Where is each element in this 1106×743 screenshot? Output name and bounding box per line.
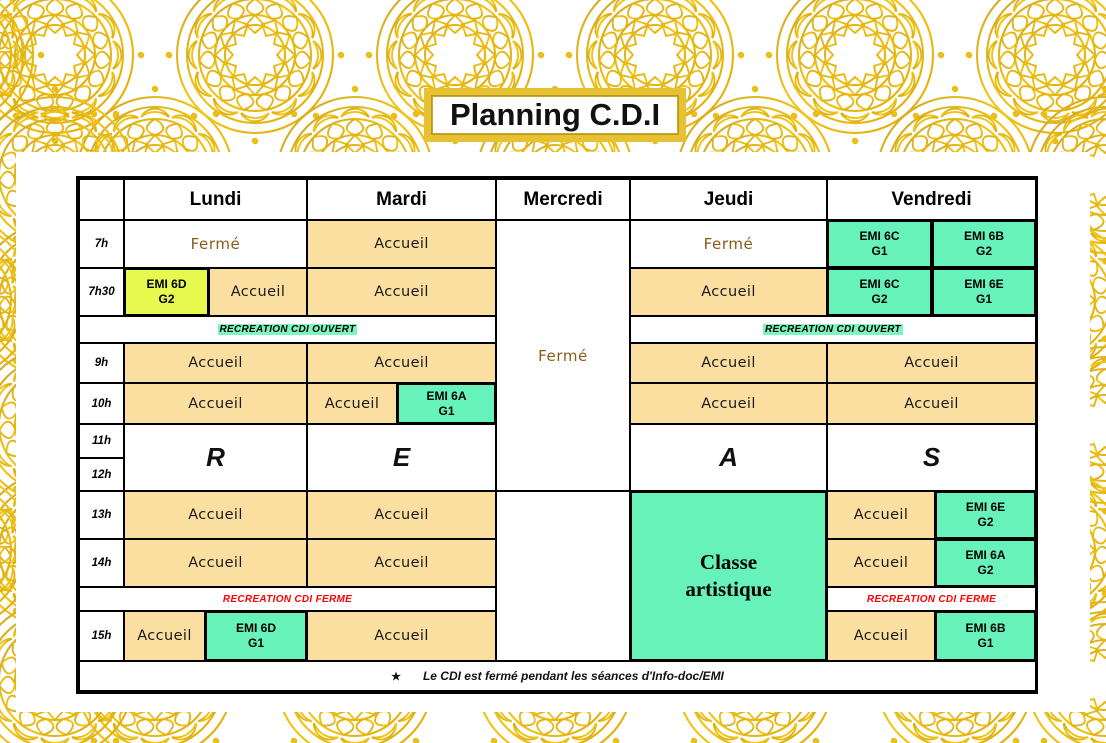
- emi-group-label: G2: [871, 292, 887, 307]
- classe-line-2: artistique: [685, 576, 771, 603]
- emi-class-label: EMI 6E: [964, 277, 1003, 292]
- emi-class-label: EMI 6D: [146, 277, 186, 292]
- cell-mardi-10h-emi-6a-g1: EMI 6A G1: [397, 383, 496, 424]
- time-label-12h: 12h: [79, 458, 124, 491]
- classe-line-1: Classe: [700, 549, 757, 576]
- planning-table: Lundi Mardi Mercredi Jeudi Vendredi 7h F…: [76, 176, 1038, 694]
- cell-vendredi-14h-emi-6a-g2: EMI 6A G2: [935, 539, 1036, 587]
- emi-group-label: G1: [977, 636, 993, 651]
- footnote-text: Le CDI est fermé pendant les séances d'I…: [423, 669, 724, 683]
- repas-letter-jeudi: A: [630, 424, 827, 491]
- cell-lundi-7h: Fermé: [124, 220, 307, 268]
- recreation-open-label: RECREATION CDI OUVERT: [763, 324, 903, 335]
- cell-lundi-13h: Accueil: [124, 491, 307, 539]
- cell-mardi-14h: Accueil: [307, 539, 496, 587]
- page-title: Planning C.D.I: [450, 97, 660, 133]
- emi-class-label: EMI 6C: [859, 229, 899, 244]
- time-label-13h: 13h: [79, 491, 124, 539]
- footnote-row: ★ Le CDI est fermé pendant les séances d…: [79, 661, 1036, 691]
- time-label-11h: 11h: [79, 424, 124, 458]
- cell-lundi-15h-accueil: Accueil: [124, 611, 205, 661]
- repas-letter-vendredi: S: [827, 424, 1036, 491]
- emi-group-label: G1: [976, 292, 992, 307]
- recreation-band-afternoon-right: RECREATION CDI FERME: [827, 587, 1036, 611]
- cell-vendredi-15h-emi-6b-g1: EMI 6B G1: [935, 611, 1036, 661]
- emi-class-label: EMI 6E: [966, 500, 1005, 515]
- repas-letter-lundi: R: [124, 424, 307, 491]
- recreation-band-afternoon-left: RECREATION CDI FERME: [79, 587, 496, 611]
- page-title-plaque: Planning C.D.I: [424, 88, 686, 142]
- cell-lundi-15h-emi-6d-g1: EMI 6D G1: [205, 611, 307, 661]
- emi-group-label: G1: [438, 404, 454, 419]
- emi-group-label: G1: [248, 636, 264, 651]
- emi-class-label: EMI 6B: [964, 229, 1004, 244]
- cell-jeudi-classe-artistique: Classe artistique: [630, 491, 827, 661]
- time-label-14h: 14h: [79, 539, 124, 587]
- emi-group-label: G2: [976, 244, 992, 259]
- cell-jeudi-9h: Accueil: [630, 343, 827, 383]
- cell-vendredi-7h-emi-6c-g1: EMI 6C G1: [827, 220, 932, 268]
- emi-group-label: G2: [977, 515, 993, 530]
- cell-mardi-10h-accueil: Accueil: [307, 383, 397, 424]
- cell-lundi-7h30-emi-6d-g2: EMI 6D G2: [124, 268, 209, 316]
- recreation-band-morning-left: RECREATION CDI OUVERT: [79, 316, 496, 343]
- time-label-9h: 9h: [79, 343, 124, 383]
- cell-lundi-10h: Accueil: [124, 383, 307, 424]
- star-icon: ★: [391, 670, 401, 683]
- emi-class-label: EMI 6C: [859, 277, 899, 292]
- cell-lundi-14h: Accueil: [124, 539, 307, 587]
- cell-jeudi-7h30: Accueil: [630, 268, 827, 316]
- emi-class-label: EMI 6A: [965, 548, 1005, 563]
- time-label-7h: 7h: [79, 220, 124, 268]
- cell-vendredi-14h-accueil: Accueil: [827, 539, 935, 587]
- cell-mardi-7h: Accueil: [307, 220, 496, 268]
- header-day-vendredi: Vendredi: [827, 179, 1036, 220]
- repas-letter-mardi: E: [307, 424, 496, 491]
- cell-vendredi-7h30-emi-6c-g2: EMI 6C G2: [827, 268, 932, 316]
- cell-mardi-9h: Accueil: [307, 343, 496, 383]
- emi-group-label: G2: [158, 292, 174, 307]
- time-label-10h: 10h: [79, 383, 124, 424]
- emi-class-label: EMI 6D: [236, 621, 276, 636]
- emi-class-label: EMI 6A: [426, 389, 466, 404]
- emi-group-label: G2: [977, 563, 993, 578]
- header-day-mardi: Mardi: [307, 179, 496, 220]
- header-day-jeudi: Jeudi: [630, 179, 827, 220]
- cell-mardi-13h: Accueil: [307, 491, 496, 539]
- cell-lundi-9h: Accueil: [124, 343, 307, 383]
- cell-lundi-7h30-accueil: Accueil: [209, 268, 307, 316]
- recreation-closed-label: RECREATION CDI FERME: [865, 594, 998, 605]
- cell-vendredi-15h-accueil: Accueil: [827, 611, 935, 661]
- cell-jeudi-10h: Accueil: [630, 383, 827, 424]
- recreation-closed-label: RECREATION CDI FERME: [221, 594, 354, 605]
- emi-group-label: G1: [871, 244, 887, 259]
- cell-vendredi-7h-emi-6b-g2: EMI 6B G2: [932, 220, 1036, 268]
- header-day-lundi: Lundi: [124, 179, 307, 220]
- cell-vendredi-10h: Accueil: [827, 383, 1036, 424]
- cell-jeudi-7h: Fermé: [630, 220, 827, 268]
- recreation-open-label: RECREATION CDI OUVERT: [218, 324, 358, 335]
- cell-vendredi-13h-accueil: Accueil: [827, 491, 935, 539]
- time-label-7h30: 7h30: [79, 268, 124, 316]
- cell-vendredi-13h-emi-6e-g2: EMI 6E G2: [935, 491, 1036, 539]
- emi-class-label: EMI 6B: [965, 621, 1005, 636]
- cell-vendredi-9h: Accueil: [827, 343, 1036, 383]
- header-day-mercredi: Mercredi: [496, 179, 630, 220]
- cell-mardi-7h30: Accueil: [307, 268, 496, 316]
- cell-mercredi-morning-ferme: Fermé: [496, 220, 630, 491]
- cell-vendredi-7h30-emi-6e-g1: EMI 6E G1: [932, 268, 1036, 316]
- header-time-col: [79, 179, 124, 220]
- cell-mercredi-afternoon-empty: [496, 491, 630, 661]
- time-label-15h: 15h: [79, 611, 124, 661]
- cell-mardi-15h: Accueil: [307, 611, 496, 661]
- recreation-band-morning-right: RECREATION CDI OUVERT: [630, 316, 1036, 343]
